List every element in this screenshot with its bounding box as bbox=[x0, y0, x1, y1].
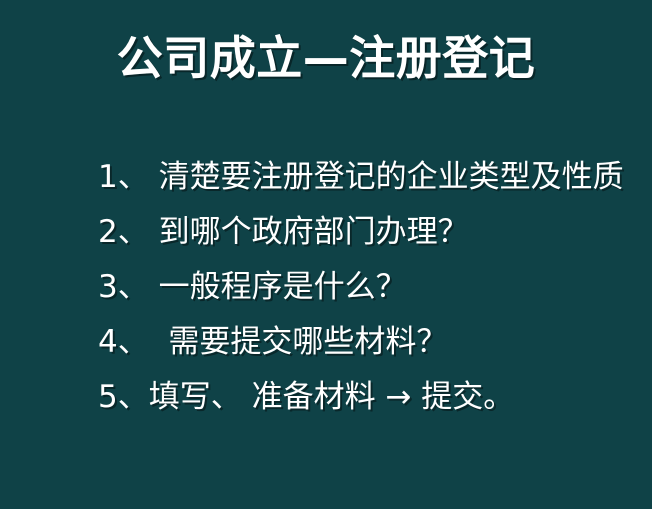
list-item: 1、 清楚要注册登记的企业类型及性质 bbox=[98, 150, 638, 205]
bullet-list: 1、 清楚要注册登记的企业类型及性质 2、 到哪个政府部门办理？ 3、 一般程序… bbox=[98, 150, 638, 425]
presentation-slide: 公司成立—注册登记 1、 清楚要注册登记的企业类型及性质 2、 到哪个政府部门办… bbox=[0, 0, 652, 509]
list-item: 5、填写、 准备材料 → 提交。 bbox=[98, 370, 638, 425]
list-item: 2、 到哪个政府部门办理？ bbox=[98, 205, 638, 260]
list-item: 3、 一般程序是什么？ bbox=[98, 260, 638, 315]
page-title: 公司成立—注册登记 bbox=[0, 30, 652, 86]
list-item: 4、 需要提交哪些材料？ bbox=[98, 315, 638, 370]
